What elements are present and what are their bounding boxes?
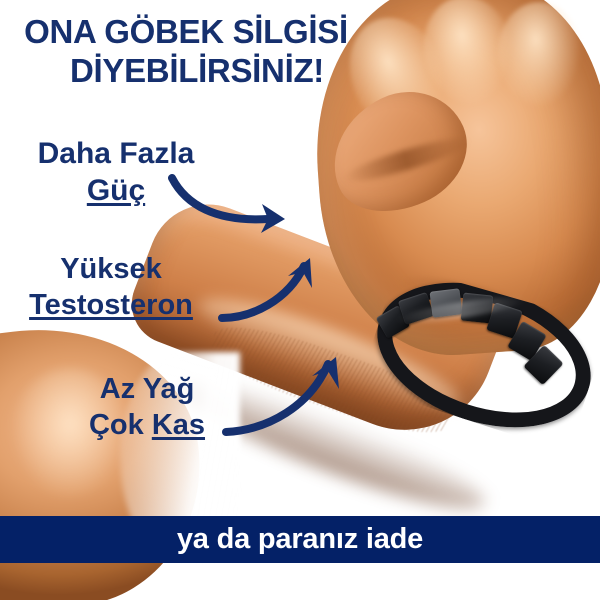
claim-testosterone-line-1: Yüksek: [60, 253, 162, 285]
claim-muscle-prefix: Çok: [89, 409, 152, 441]
claim-power-line-2: Güç: [2, 175, 230, 207]
guarantee-banner-text: ya da paranız iade: [0, 516, 600, 563]
claim-testosterone-line-2: Testosteron: [0, 290, 224, 321]
ad-creative: ONA GÖBEK SİLGİSİ DİYEBİLİRSİNİZ! Daha F…: [0, 0, 600, 600]
guarantee-banner: ya da paranız iade: [0, 516, 600, 563]
arrow-head-icon: [288, 258, 312, 288]
arrow-head-icon: [261, 204, 285, 233]
magnetic-bracelet: [374, 288, 574, 406]
arrow-head-icon: [312, 357, 339, 389]
claim-power: Daha Fazla Güç: [2, 138, 230, 207]
arrow-up-right-icon: [222, 266, 304, 318]
claim-muscle-line-1: Az Yağ: [100, 373, 195, 405]
claim-muscle: Az Yağ Çok Kas: [36, 374, 258, 440]
thumb-crease: [340, 131, 472, 189]
claim-power-line-1: Daha Fazla: [38, 137, 195, 170]
headline-line-1: ONA GÖBEK SİLGİSİ: [24, 13, 348, 50]
claim-testosterone: Yüksek Testosteron: [0, 254, 224, 320]
bracelet-band: [359, 257, 600, 452]
thumb-shape: [313, 73, 485, 231]
claim-muscle-line-2: Çok Kas: [36, 410, 258, 441]
knuckle-highlight: [415, 0, 520, 111]
page-title: ONA GÖBEK SİLGİSİ DİYEBİLİRSİNİZ!: [0, 12, 372, 90]
knuckle-highlight: [495, 0, 584, 108]
claim-muscle-keyword: Kas: [152, 409, 205, 441]
headline-line-2: DİYEBİLİRSİNİZ!: [0, 51, 372, 90]
